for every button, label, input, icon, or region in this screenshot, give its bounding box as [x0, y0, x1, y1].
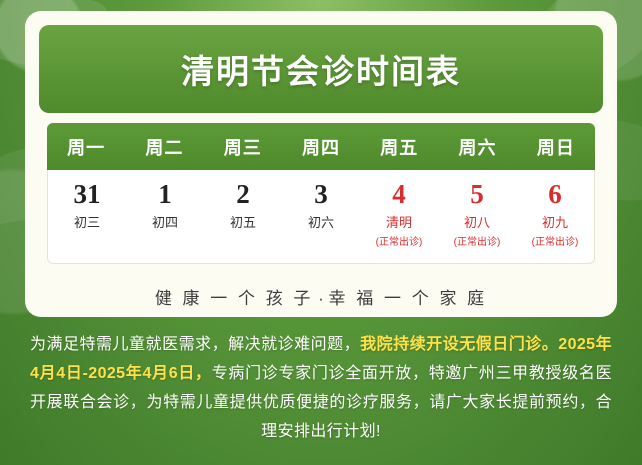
day-lunar-label: 初八 — [464, 212, 490, 231]
day-number: 3 — [314, 180, 328, 208]
day-lunar-label: 初六 — [308, 212, 334, 231]
calendar-day-cell: 3 初六 — [282, 170, 360, 263]
announcement-segment-1: 为满足特需儿童就医需求，解决就诊难问题， — [30, 336, 360, 353]
calendar-day-cell: 4 清明 (正常出诊) — [360, 170, 438, 263]
day-number: 6 — [548, 180, 562, 208]
day-lunar-label: 清明 — [386, 212, 412, 231]
schedule-card: 清明节会诊时间表 周一 周二 周三 周四 周五 周六 周日 31 初三 1 初四… — [25, 11, 617, 317]
week-header-cell: 周一 — [47, 134, 125, 160]
calendar-day-cell: 5 初八 (正常出诊) — [438, 170, 516, 263]
day-number: 1 — [158, 180, 172, 208]
poster-root: 清明节会诊时间表 周一 周二 周三 周四 周五 周六 周日 31 初三 1 初四… — [0, 0, 642, 465]
title-band: 清明节会诊时间表 — [39, 25, 603, 113]
slogan-main: 健 康 一 个 孩 子 — [155, 289, 314, 308]
week-header-row: 周一 周二 周三 周四 周五 周六 周日 — [47, 123, 595, 170]
calendar-day-row: 31 初三 1 初四 2 初五 3 初六 4 清明 (正 — [47, 170, 595, 264]
day-note: (正常出诊) — [532, 233, 579, 248]
day-lunar-label: 初四 — [152, 212, 178, 231]
week-header-cell: 周五 — [360, 134, 438, 160]
calendar-day-cell: 1 初四 — [126, 170, 204, 263]
page-title: 清明节会诊时间表 — [181, 45, 461, 93]
day-number: 4 — [392, 180, 406, 208]
day-note: (正常出诊) — [454, 233, 501, 248]
announcement-body: 为满足特需儿童就医需求，解决就诊难问题，我院持续开设无假日门诊。2025年4月4… — [30, 330, 612, 446]
day-lunar-label: 初九 — [542, 212, 568, 231]
week-header-cell: 周四 — [282, 134, 360, 160]
week-header-cell: 周六 — [438, 134, 516, 160]
week-header-cell: 周日 — [517, 134, 595, 160]
day-number: 5 — [470, 180, 484, 208]
day-lunar-label: 初三 — [74, 212, 100, 231]
day-number: 31 — [74, 180, 101, 208]
week-header-cell: 周二 — [125, 134, 203, 160]
calendar-day-cell: 2 初五 — [204, 170, 282, 263]
day-lunar-label: 初五 — [230, 212, 256, 231]
slogan-sub: 幸 福 一 个 家 庭 — [329, 289, 488, 308]
slogan: 健 康 一 个 孩 子 · 幸 福 一 个 家 庭 — [25, 284, 617, 309]
calendar-day-cell: 31 初三 — [48, 170, 126, 263]
day-number: 2 — [236, 180, 250, 208]
slogan-separator: · — [313, 289, 328, 308]
calendar-day-cell: 6 初九 (正常出诊) — [516, 170, 594, 263]
day-note: (正常出诊) — [376, 233, 423, 248]
week-header-cell: 周三 — [204, 134, 282, 160]
